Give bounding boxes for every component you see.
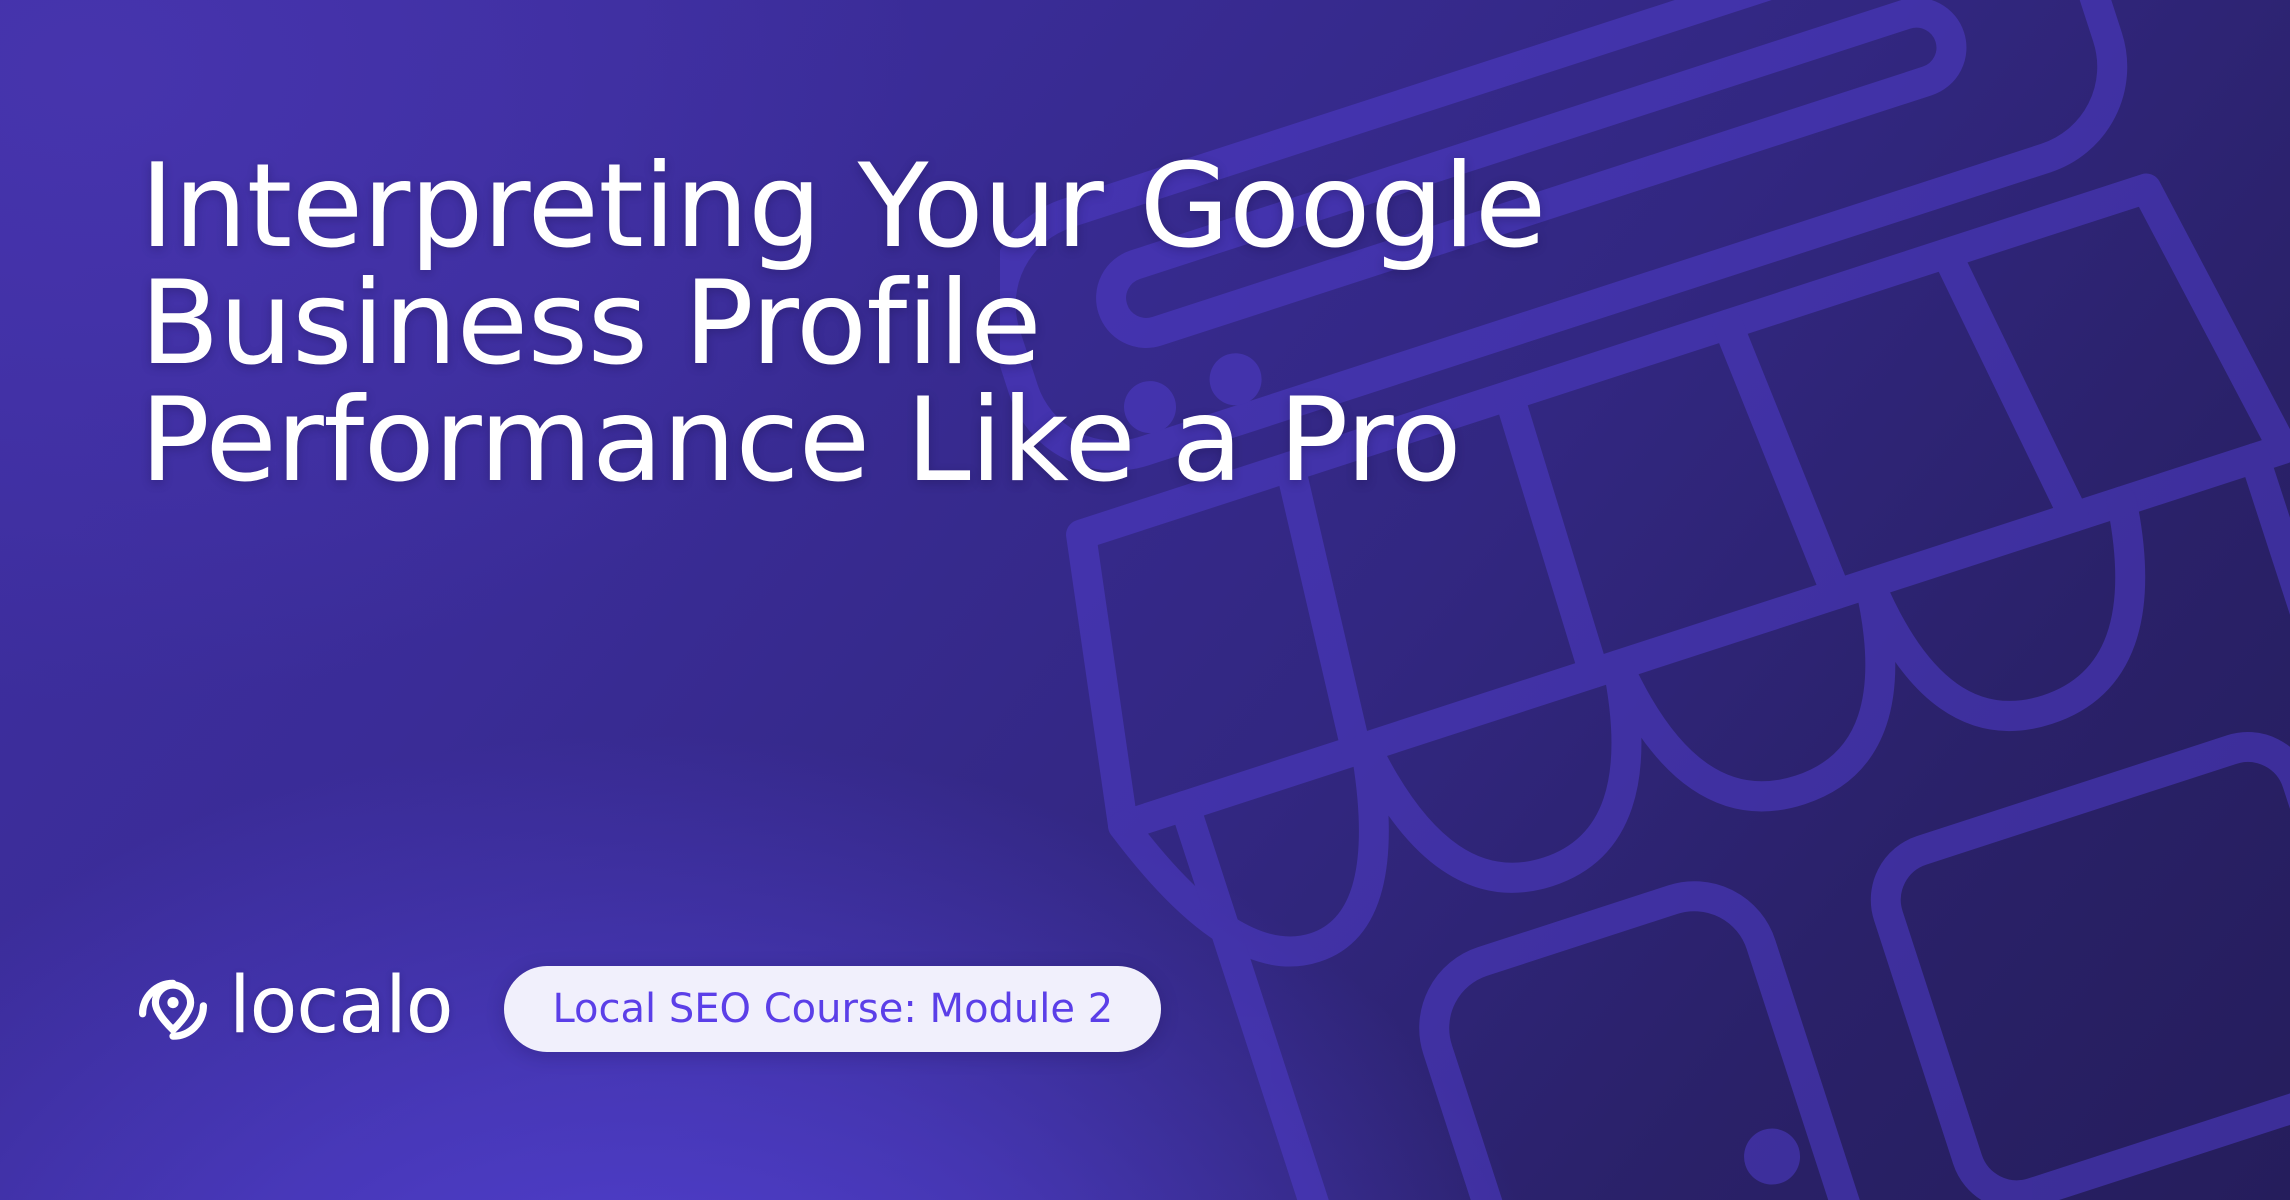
localo-location-pin-logo-icon <box>133 969 213 1049</box>
course-module-badge[interactable]: Local SEO Course: Module 2 <box>504 966 1161 1052</box>
title-line-2: Business Profile <box>140 265 1900 382</box>
course-banner: Interpreting Your Google Business Profil… <box>0 0 2290 1200</box>
title-line-1: Interpreting Your Google <box>140 148 1900 265</box>
banner-footer: localo Local SEO Course: Module 2 <box>133 966 1161 1052</box>
localo-wordmark: localo <box>229 967 452 1051</box>
title-line-3: Performance Like a Pro <box>140 382 1900 499</box>
page-title: Interpreting Your Google Business Profil… <box>140 148 1900 499</box>
localo-logo[interactable]: localo <box>133 967 452 1051</box>
